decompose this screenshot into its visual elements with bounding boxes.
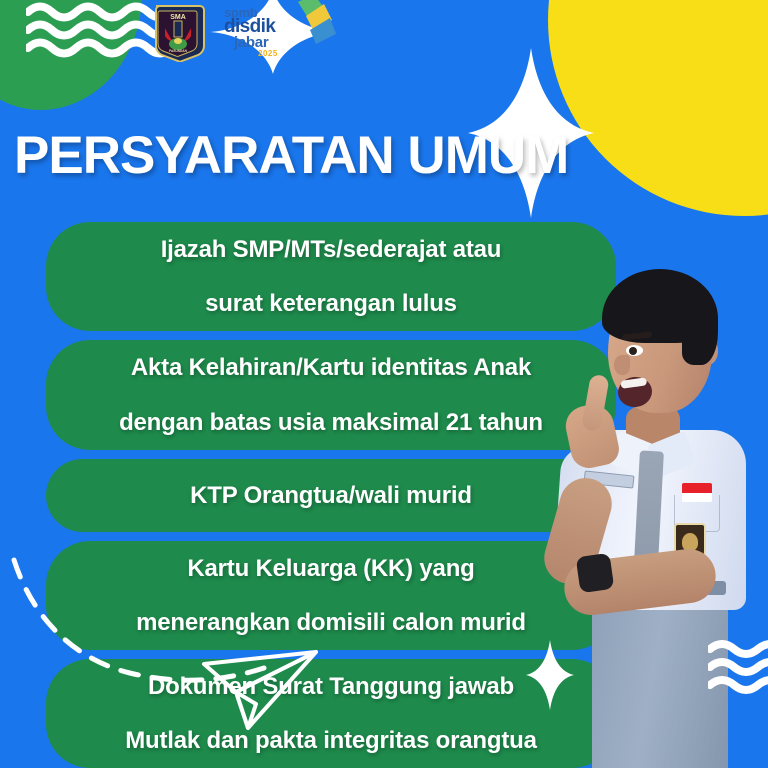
student-nose [614,355,630,375]
spmb-disdik-jabar-logo: spmb disdik jabar 2025 [210,2,320,62]
poster-canvas: SMA PASUNDAN spmb disdik [0,0,768,768]
requirement-line-2: Mutlak dan pakta integritas orangtua [72,727,590,754]
wave-lines-icon [708,640,768,698]
spmb-line3: jabar [234,35,278,50]
header-logos: SMA PASUNDAN spmb disdik [0,0,768,70]
page-title: PERSYARATAN UMUM [14,125,568,186]
flag-stripe-red [682,483,712,493]
requirement-pill-akta-kelahiran[interactable]: Akta Kelahiran/Kartu identitas Anak deng… [46,340,616,449]
requirement-line-1: Akta Kelahiran/Kartu identitas Anak [72,354,590,381]
requirement-pill-ktp-orangtua[interactable]: KTP Orangtua/wali murid [46,459,616,532]
sma-badge-icon: SMA PASUNDAN [150,2,206,62]
student-hair-side [682,293,718,365]
student-eye [626,345,643,356]
black-wristwatch [576,553,615,593]
requirement-pill-ijazah[interactable]: Ijazah SMP/MTs/sederajat atau surat kete… [46,222,616,331]
spmb-logo-text: spmb disdik jabar 2025 [224,6,278,58]
svg-text:SMA: SMA [170,14,186,21]
paper-plane-icon [196,630,326,740]
requirement-line-1: KTP Orangtua/wali murid [72,482,590,509]
sparkle-icon [526,640,574,710]
requirement-line-2: dengan batas usia maksimal 21 tahun [72,409,590,436]
requirement-line-2: surat keterangan lulus [72,290,590,317]
requirement-line-1: Ijazah SMP/MTs/sederajat atau [72,236,590,263]
spmb-year: 2025 [258,50,278,58]
svg-text:PASUNDAN: PASUNDAN [169,49,188,53]
